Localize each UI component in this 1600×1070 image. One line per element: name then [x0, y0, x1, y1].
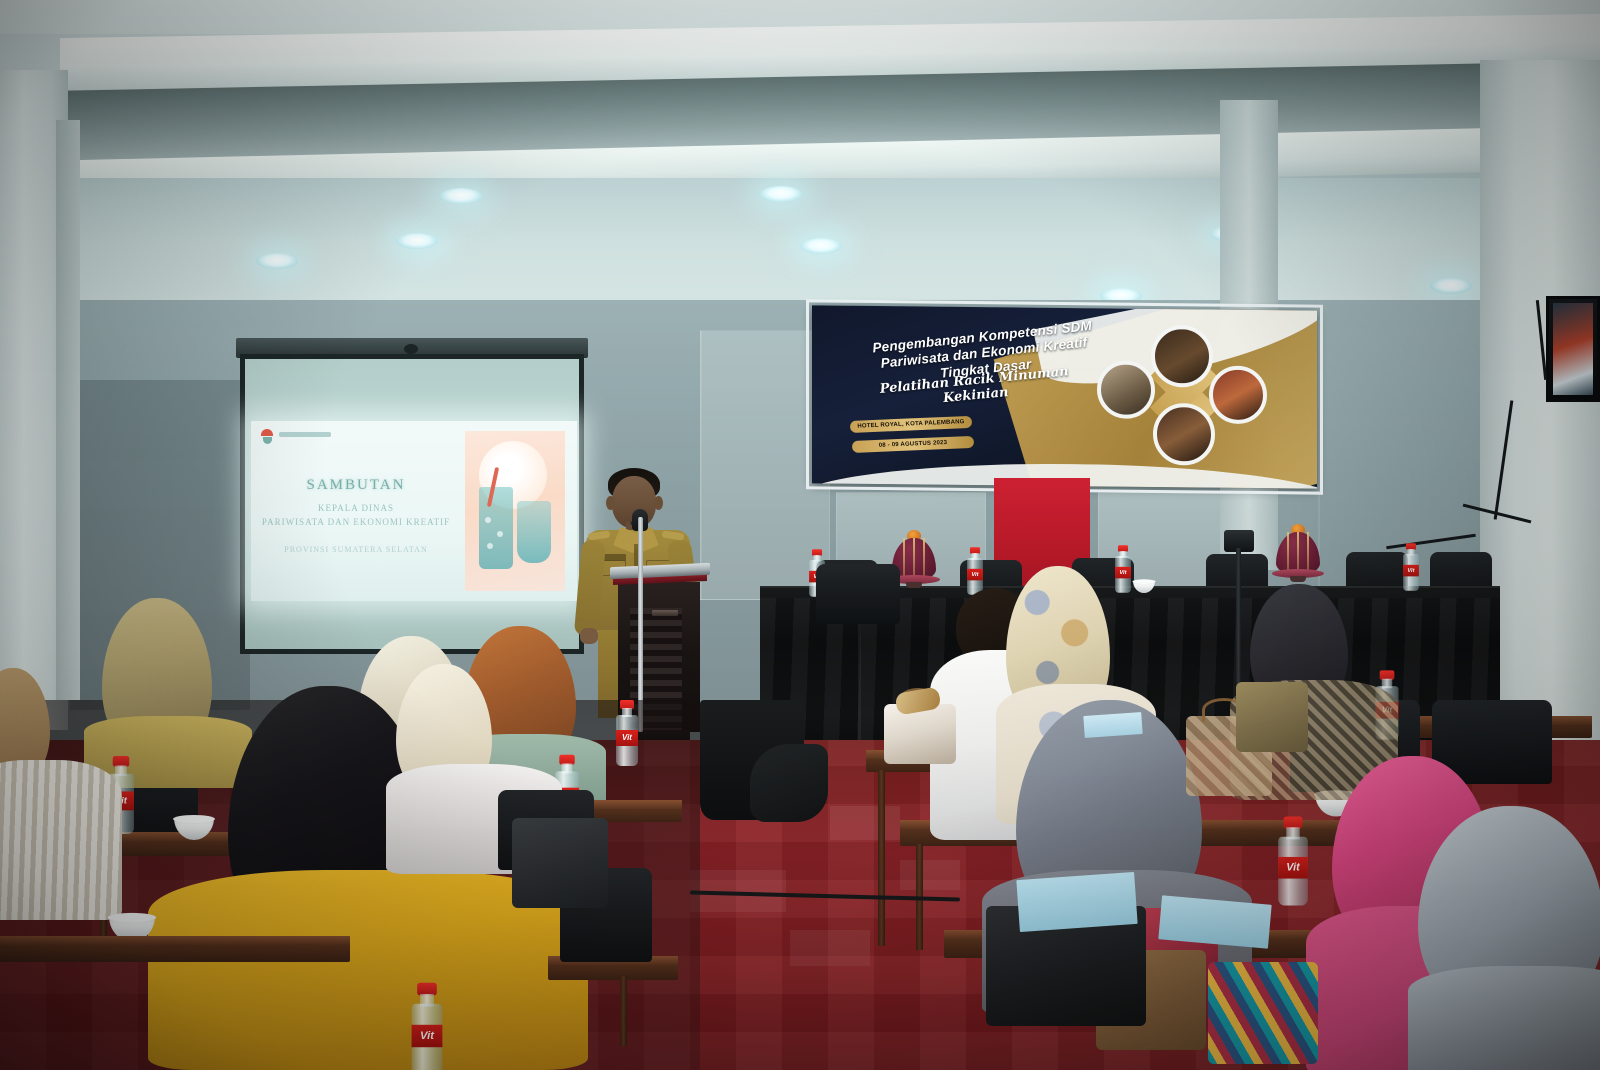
handbag-left-foreground — [512, 818, 608, 908]
bottle-brand: Vit — [971, 572, 978, 578]
bottle-label: Vit — [1278, 857, 1308, 879]
slide-subtitle-3: PROVINSI SUMATERA SELATAN — [271, 545, 441, 554]
blue-paper — [1016, 872, 1137, 932]
slide-title: SAMBUTAN — [261, 477, 451, 494]
audience-chair — [816, 564, 900, 624]
slide-logo-text — [279, 432, 331, 437]
screen-frame: SAMBUTAN KEPALA DINAS PARIWISATA DAN EKO… — [240, 354, 584, 654]
tudung-stand — [906, 582, 922, 588]
screen-surface: SAMBUTAN KEPALA DINAS PARIWISATA DAN EKO… — [245, 359, 579, 649]
attendee-lightblue-hijab — [1408, 806, 1600, 1070]
slide-dot — [487, 543, 493, 549]
bottle-brand: Vit — [1407, 568, 1414, 574]
projection-screen: SAMBUTAN KEPALA DINAS PARIWISATA DAN EKO… — [236, 338, 588, 660]
speaker-ear — [606, 496, 615, 510]
attendee-torso — [1408, 966, 1600, 1070]
ceiling — [0, 0, 1600, 330]
handbag-white — [884, 704, 956, 764]
tudung-rib — [1307, 532, 1309, 574]
downlight-icon — [440, 188, 482, 204]
slide-dot — [497, 531, 503, 537]
table-leg — [878, 770, 885, 946]
bowl-rim — [108, 913, 156, 922]
bottle-label: Vit — [412, 1025, 443, 1047]
slide-illustration — [465, 431, 565, 591]
blue-paper — [1083, 712, 1142, 738]
bottle-label: Vit — [967, 569, 983, 581]
table-top — [0, 936, 350, 945]
table-leg — [620, 976, 627, 1046]
seminar-room-photo: SAMBUTAN KEPALA DINAS PARIWISATA DAN EKO… — [0, 0, 1600, 1070]
water-bottle: Vit — [412, 983, 443, 1070]
screen-knob — [404, 344, 418, 354]
slide-logo-icon — [261, 429, 275, 445]
tudung-rib — [1287, 532, 1289, 574]
downlight-icon — [800, 238, 842, 254]
audience-table — [0, 936, 350, 962]
bottle-brand: Vit — [1286, 862, 1299, 873]
monitor-screen — [1553, 303, 1593, 395]
carpet-tile — [790, 930, 870, 966]
presentation-slide: SAMBUTAN KEPALA DINAS PARIWISATA DAN EKO… — [251, 421, 577, 601]
bottle-label: Vit — [616, 730, 638, 746]
bottle-brand: Vit — [622, 734, 632, 742]
water-bottle: Vit — [1278, 816, 1308, 905]
attendee-striped-shirt — [0, 668, 146, 918]
wall-monitor — [1546, 296, 1600, 402]
slide-dot — [485, 517, 491, 523]
carpet-tile — [830, 806, 900, 840]
handbag-olive-tote — [1236, 682, 1308, 752]
slide-subtitle-2: PARIWISATA DAN EKONOMI KREATIF — [256, 517, 456, 527]
banner-frame — [806, 299, 1323, 494]
slide-glass-shape — [479, 487, 513, 569]
slide-subtitle-1: KEPALA DINAS — [271, 503, 441, 513]
bottle-label: Vit — [1403, 565, 1419, 577]
downlight-icon — [396, 233, 438, 249]
downlight-icon — [256, 253, 298, 269]
tudung-saji-right — [1272, 522, 1324, 580]
blue-paper — [1158, 895, 1271, 948]
tudung-rib — [903, 538, 905, 580]
slide-cup-shape — [517, 501, 551, 563]
bottle-brand: Vit — [420, 1030, 434, 1041]
water-bottle: Vit — [616, 700, 638, 766]
handbag-batik-foreground — [1208, 962, 1318, 1064]
wall-seam — [700, 330, 702, 600]
podium-plate — [652, 610, 678, 616]
stage-drape — [750, 744, 828, 822]
speaker-ear — [654, 496, 663, 510]
attendee-torso — [0, 760, 122, 920]
tudung-stand — [1290, 576, 1306, 582]
tudung-rib — [1297, 532, 1299, 574]
downlight-icon — [1430, 278, 1472, 294]
tudung-rib — [913, 538, 915, 580]
carpet-tile — [900, 860, 960, 890]
tudung-rib — [923, 538, 925, 580]
downlight-icon — [760, 186, 802, 202]
